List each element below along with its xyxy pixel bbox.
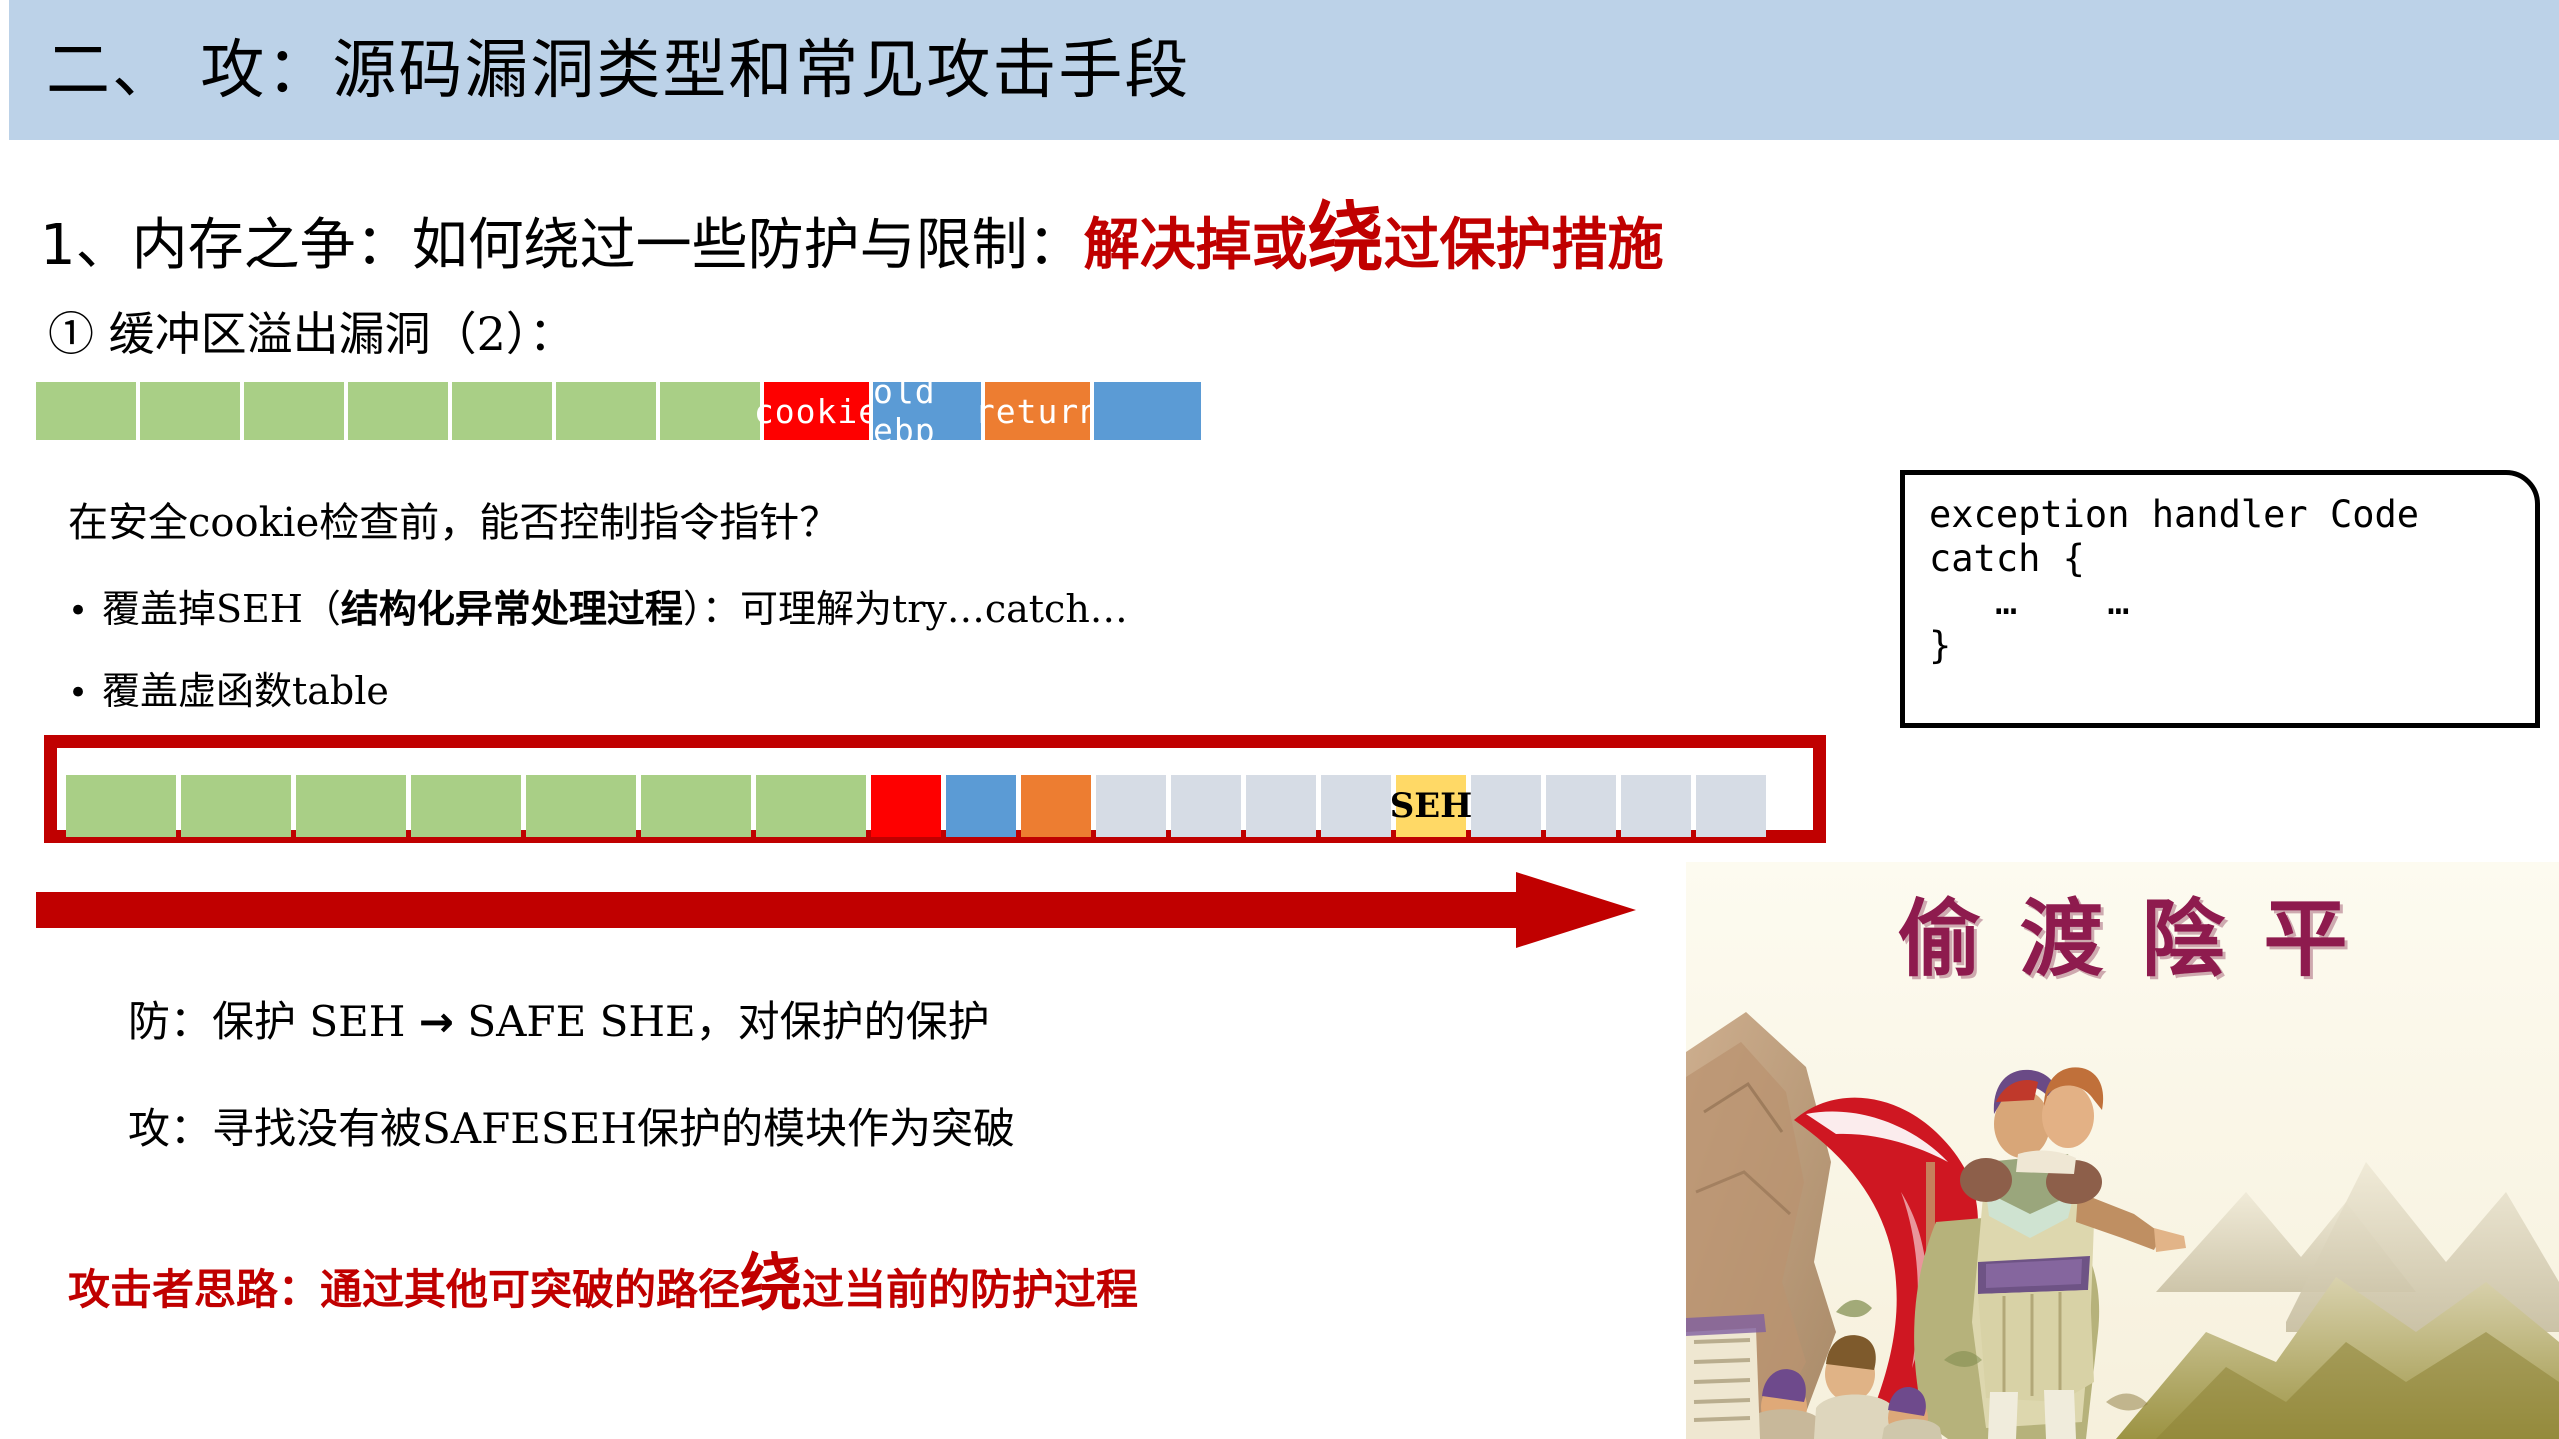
subtitle-row: 1、内存之争：如何绕过一些防护与限制：解决掉或绕过保护措施 [40, 200, 1664, 276]
bullet-item-2: • 覆盖虚函数table [68, 660, 389, 715]
memory2-cell-5 [641, 775, 751, 837]
memory2-cell-1 [181, 775, 291, 837]
slide-header-bar: 二、 攻：源码漏洞类型和常见攻击手段 [0, 0, 2559, 140]
memory-cell-cookie: cookie [764, 382, 869, 440]
illustration-title: 偷渡陰平 [1686, 872, 2559, 993]
conclusion-part-c: 过当前的防护过程 [802, 1265, 1138, 1314]
defense-tactic-line: 防：保护 SEH → SAFE SHE，对保护的保护 [128, 988, 990, 1049]
code-ellipsis-right: … [2107, 580, 2129, 623]
code-ellipsis-left: … [1995, 580, 2017, 623]
subtitle-red-text-c: 过保护措施 [1384, 213, 1664, 278]
defense-prefix: 防：保护 SEH [128, 997, 419, 1046]
memory-layout-bar-2: SEH [66, 775, 1766, 837]
memory2-cell-17 [1621, 775, 1691, 837]
memory-cell-3 [348, 382, 448, 440]
memory2-cell-6 [756, 775, 866, 837]
code-line-4: } [1929, 624, 2513, 668]
memory2-cell-13 [1321, 775, 1391, 837]
memory-cell-10 [1094, 382, 1201, 440]
memory2-cell-15 [1471, 775, 1541, 837]
memory2-cell-8 [946, 775, 1016, 837]
question-text: 在安全cookie检查前，能否控制指令指针？ [68, 490, 839, 548]
memory-cell-old-ebp: old ebp [873, 382, 981, 440]
bullet-2-text-a: 覆盖虚函数table [102, 660, 389, 715]
memory2-cell-4 [526, 775, 636, 837]
illustration-image: 偷渡陰平 [1686, 862, 2559, 1439]
memory2-cell-16 [1546, 775, 1616, 837]
subtitle-red-emphasis: 绕 [1308, 193, 1384, 282]
memory-cell-1 [140, 382, 240, 440]
overflow-direction-arrow [36, 872, 1636, 953]
code-line-1: exception handler Code [1929, 493, 2513, 537]
memory2-cell-3 [411, 775, 521, 837]
bullet-item-1: • 覆盖掉SEH（ 结构化异常处理过程 ）：可理解为try…catch… [68, 578, 1128, 633]
code-line-2: catch { [1929, 537, 2513, 581]
memory2-cell-11 [1171, 775, 1241, 837]
memory2-cell-12 [1246, 775, 1316, 837]
bullet-1-text-a: 覆盖掉SEH（ [102, 578, 341, 633]
memory2-cell-18 [1696, 775, 1766, 837]
conclusion-emphasis: 绕 [740, 1246, 802, 1319]
conclusion-text: 攻击者思路：通过其他可突破的路径绕过当前的防护过程 [68, 1252, 1138, 1314]
right-arrow-icon: → [419, 997, 454, 1046]
memory2-cell-7 [871, 775, 941, 837]
subsection-label: ① 缓冲区溢出漏洞（2）： [48, 298, 575, 364]
conclusion-part-a: 攻击者思路：通过其他可突破的路径 [68, 1265, 740, 1314]
exception-handler-code-box: exception handler Code catch { …… } [1900, 470, 2540, 728]
memory2-cell-2 [296, 775, 406, 837]
memory-cell-return: return [985, 382, 1090, 440]
defense-suffix: SAFE SHE，对保护的保护 [454, 997, 990, 1046]
bullet-dot-icon: • [68, 594, 102, 628]
memory-layout-bar-1: cookieold ebpreturn [36, 382, 1201, 440]
memory-cell-2 [244, 382, 344, 440]
bullet-1-emphasis: 结构化异常处理过程 [341, 578, 683, 633]
bullet-dot-icon: • [68, 676, 102, 710]
bullet-1-text-c: ）：可理解为try…catch… [683, 578, 1128, 633]
subtitle-black-text: 1、内存之争：如何绕过一些防护与限制： [40, 213, 1084, 278]
memory2-cell-SEH: SEH [1396, 775, 1466, 837]
subtitle-red-text-a: 解决掉或 [1084, 213, 1308, 278]
memory2-cell-0 [66, 775, 176, 837]
memory2-cell-9 [1021, 775, 1091, 837]
code-line-3: …… [1929, 580, 2513, 624]
attack-tactic-line: 攻：寻找没有被SAFESEH保护的模块作为突破 [128, 1095, 1015, 1156]
memory2-cell-10 [1096, 775, 1166, 837]
memory-cell-0 [36, 382, 136, 440]
memory-cell-6 [660, 382, 760, 440]
header-left-accent [0, 0, 9, 140]
memory-cell-4 [452, 382, 552, 440]
page-title: 二、 攻：源码漏洞类型和常见攻击手段 [46, 16, 1190, 126]
memory-cell-5 [556, 382, 656, 440]
